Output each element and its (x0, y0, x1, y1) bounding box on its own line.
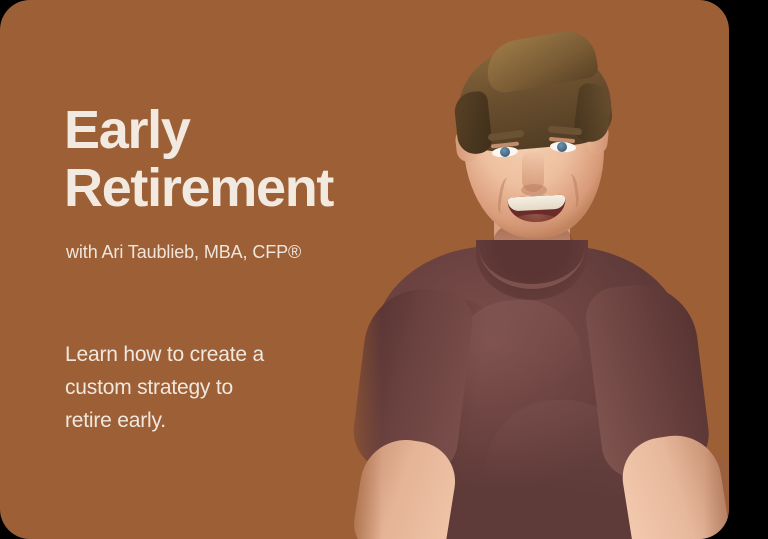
hero-text-column: Early Retirement with Ari Taublieb, MBA,… (64, 0, 424, 539)
chin (508, 214, 564, 236)
forearm-right-shadow (704, 452, 729, 539)
iris-right (557, 142, 567, 152)
hero-description: Learn how to create a custom strategy to… (65, 338, 264, 437)
host-byline: with Ari Taublieb, MBA, CFP® (66, 240, 301, 264)
screenshot-stage: Early Retirement with Ari Taublieb, MBA,… (0, 0, 768, 539)
page-title: Early Retirement (64, 101, 333, 217)
iris-left (500, 147, 510, 157)
early-retirement-hero-card: Early Retirement with Ari Taublieb, MBA,… (0, 0, 729, 539)
nose-tip (521, 184, 547, 196)
teeth (507, 195, 566, 212)
